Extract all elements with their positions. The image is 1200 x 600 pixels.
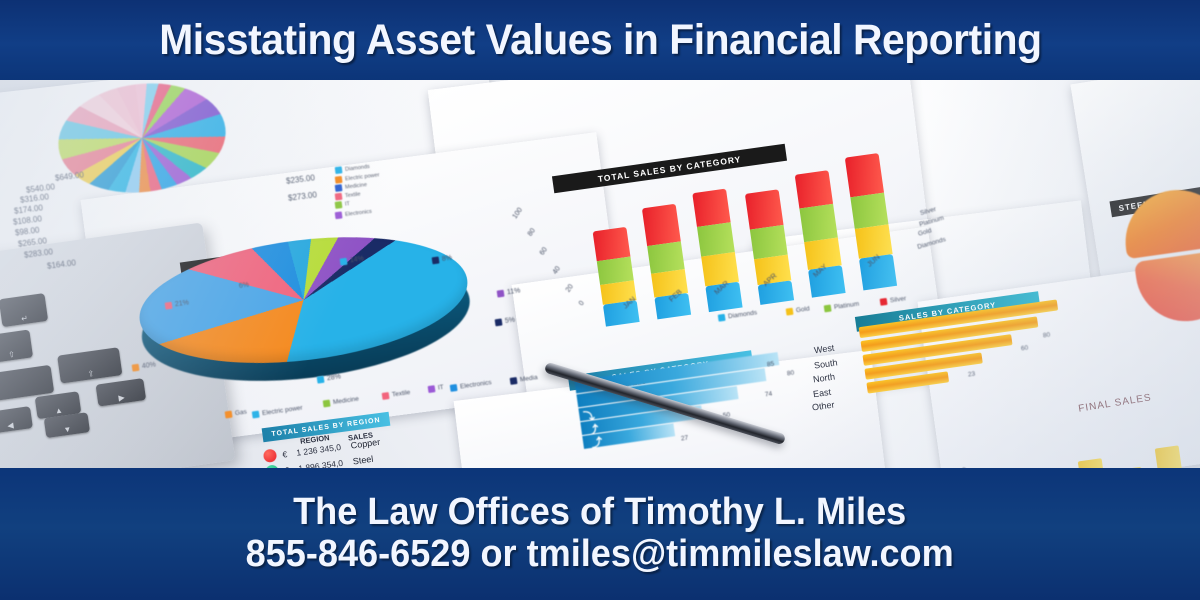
- legend-swatch-icon: [824, 305, 832, 313]
- bar-value-label: 60: [1021, 345, 1029, 353]
- percent-value: 6%: [239, 282, 250, 290]
- legend-swatch-icon: [335, 166, 343, 174]
- shift-key[interactable]: ⇧: [57, 347, 122, 383]
- legend-swatch-icon: [340, 258, 348, 266]
- legend-swatch-icon: [718, 314, 726, 322]
- financial-charts-photo: ↵ ⇧ ⇧ ◀ ▲ ▼ ▶ $649.00 $540.00 $316.00 $1…: [0, 80, 1200, 468]
- currency-symbol: €: [282, 447, 297, 459]
- legend-swatch-icon: [335, 193, 343, 201]
- legend-swatch-icon: [229, 283, 237, 291]
- arrow-right-key[interactable]: ▶: [96, 378, 147, 406]
- contact-info: 855-846-6529 or tmiles@timmileslaw.com: [246, 535, 954, 575]
- legend-swatch-icon: [335, 184, 343, 192]
- legend-swatch-icon: [428, 385, 436, 393]
- percent-value: 8%: [442, 255, 453, 263]
- arrow-left-key[interactable]: ◀: [0, 406, 33, 434]
- bar-value-label: 85: [767, 361, 775, 369]
- legend-swatch-icon: [450, 384, 458, 392]
- legend-swatch-icon: [786, 308, 794, 316]
- promo-banner: Misstating Asset Values in Financial Rep…: [0, 0, 1200, 600]
- bar-value-label: 74: [765, 391, 773, 399]
- legend-swatch-icon: [495, 318, 503, 326]
- percent-value: 5%: [505, 317, 516, 325]
- legend-swatch-icon: [880, 298, 888, 306]
- banner-header: Misstating Asset Values in Financial Rep…: [0, 0, 1200, 80]
- shift-key[interactable]: ⇧: [0, 329, 33, 363]
- legend-swatch-icon: [323, 400, 331, 408]
- legend-swatch-icon: [335, 176, 343, 184]
- steel-pie-chart: [1111, 182, 1200, 308]
- legend-swatch-icon: [335, 211, 343, 219]
- legend-swatch-icon: [382, 392, 390, 400]
- legend-swatch-icon: [317, 376, 325, 384]
- legend-swatch-icon: [225, 411, 233, 419]
- legend-label: IT: [345, 201, 351, 208]
- bar-value-label: 27: [681, 435, 689, 443]
- legend-label: Textile: [345, 191, 361, 199]
- page-title: Misstating Asset Values in Financial Rep…: [159, 16, 1041, 65]
- legend-swatch-icon: [165, 302, 173, 310]
- table-cell-name: Steel: [352, 453, 374, 466]
- legend-swatch-icon: [510, 377, 518, 385]
- arrow-up-icon: ⤴: [590, 433, 603, 450]
- table-cell-value: 1 896 354,0: [298, 457, 344, 468]
- return-key[interactable]: ↵: [0, 293, 48, 327]
- legend-label: IT: [437, 384, 444, 392]
- legend-swatch-icon: [497, 290, 505, 298]
- bar-value-label: 80: [1043, 332, 1051, 340]
- bar-value-label: 80: [787, 370, 795, 378]
- table-cell-name: Copper: [350, 436, 381, 450]
- legend-swatch-icon: [252, 411, 260, 419]
- status-badge: [263, 448, 278, 463]
- legend-swatch-icon: [132, 364, 140, 372]
- law-firm-name: The Law Offices of Timothy L. Miles: [293, 493, 906, 533]
- banner-footer: The Law Offices of Timothy L. Miles 855-…: [0, 468, 1200, 600]
- bar-value-label: 23: [968, 371, 976, 379]
- legend-swatch-icon: [335, 201, 343, 209]
- legend-swatch-icon: [432, 256, 440, 264]
